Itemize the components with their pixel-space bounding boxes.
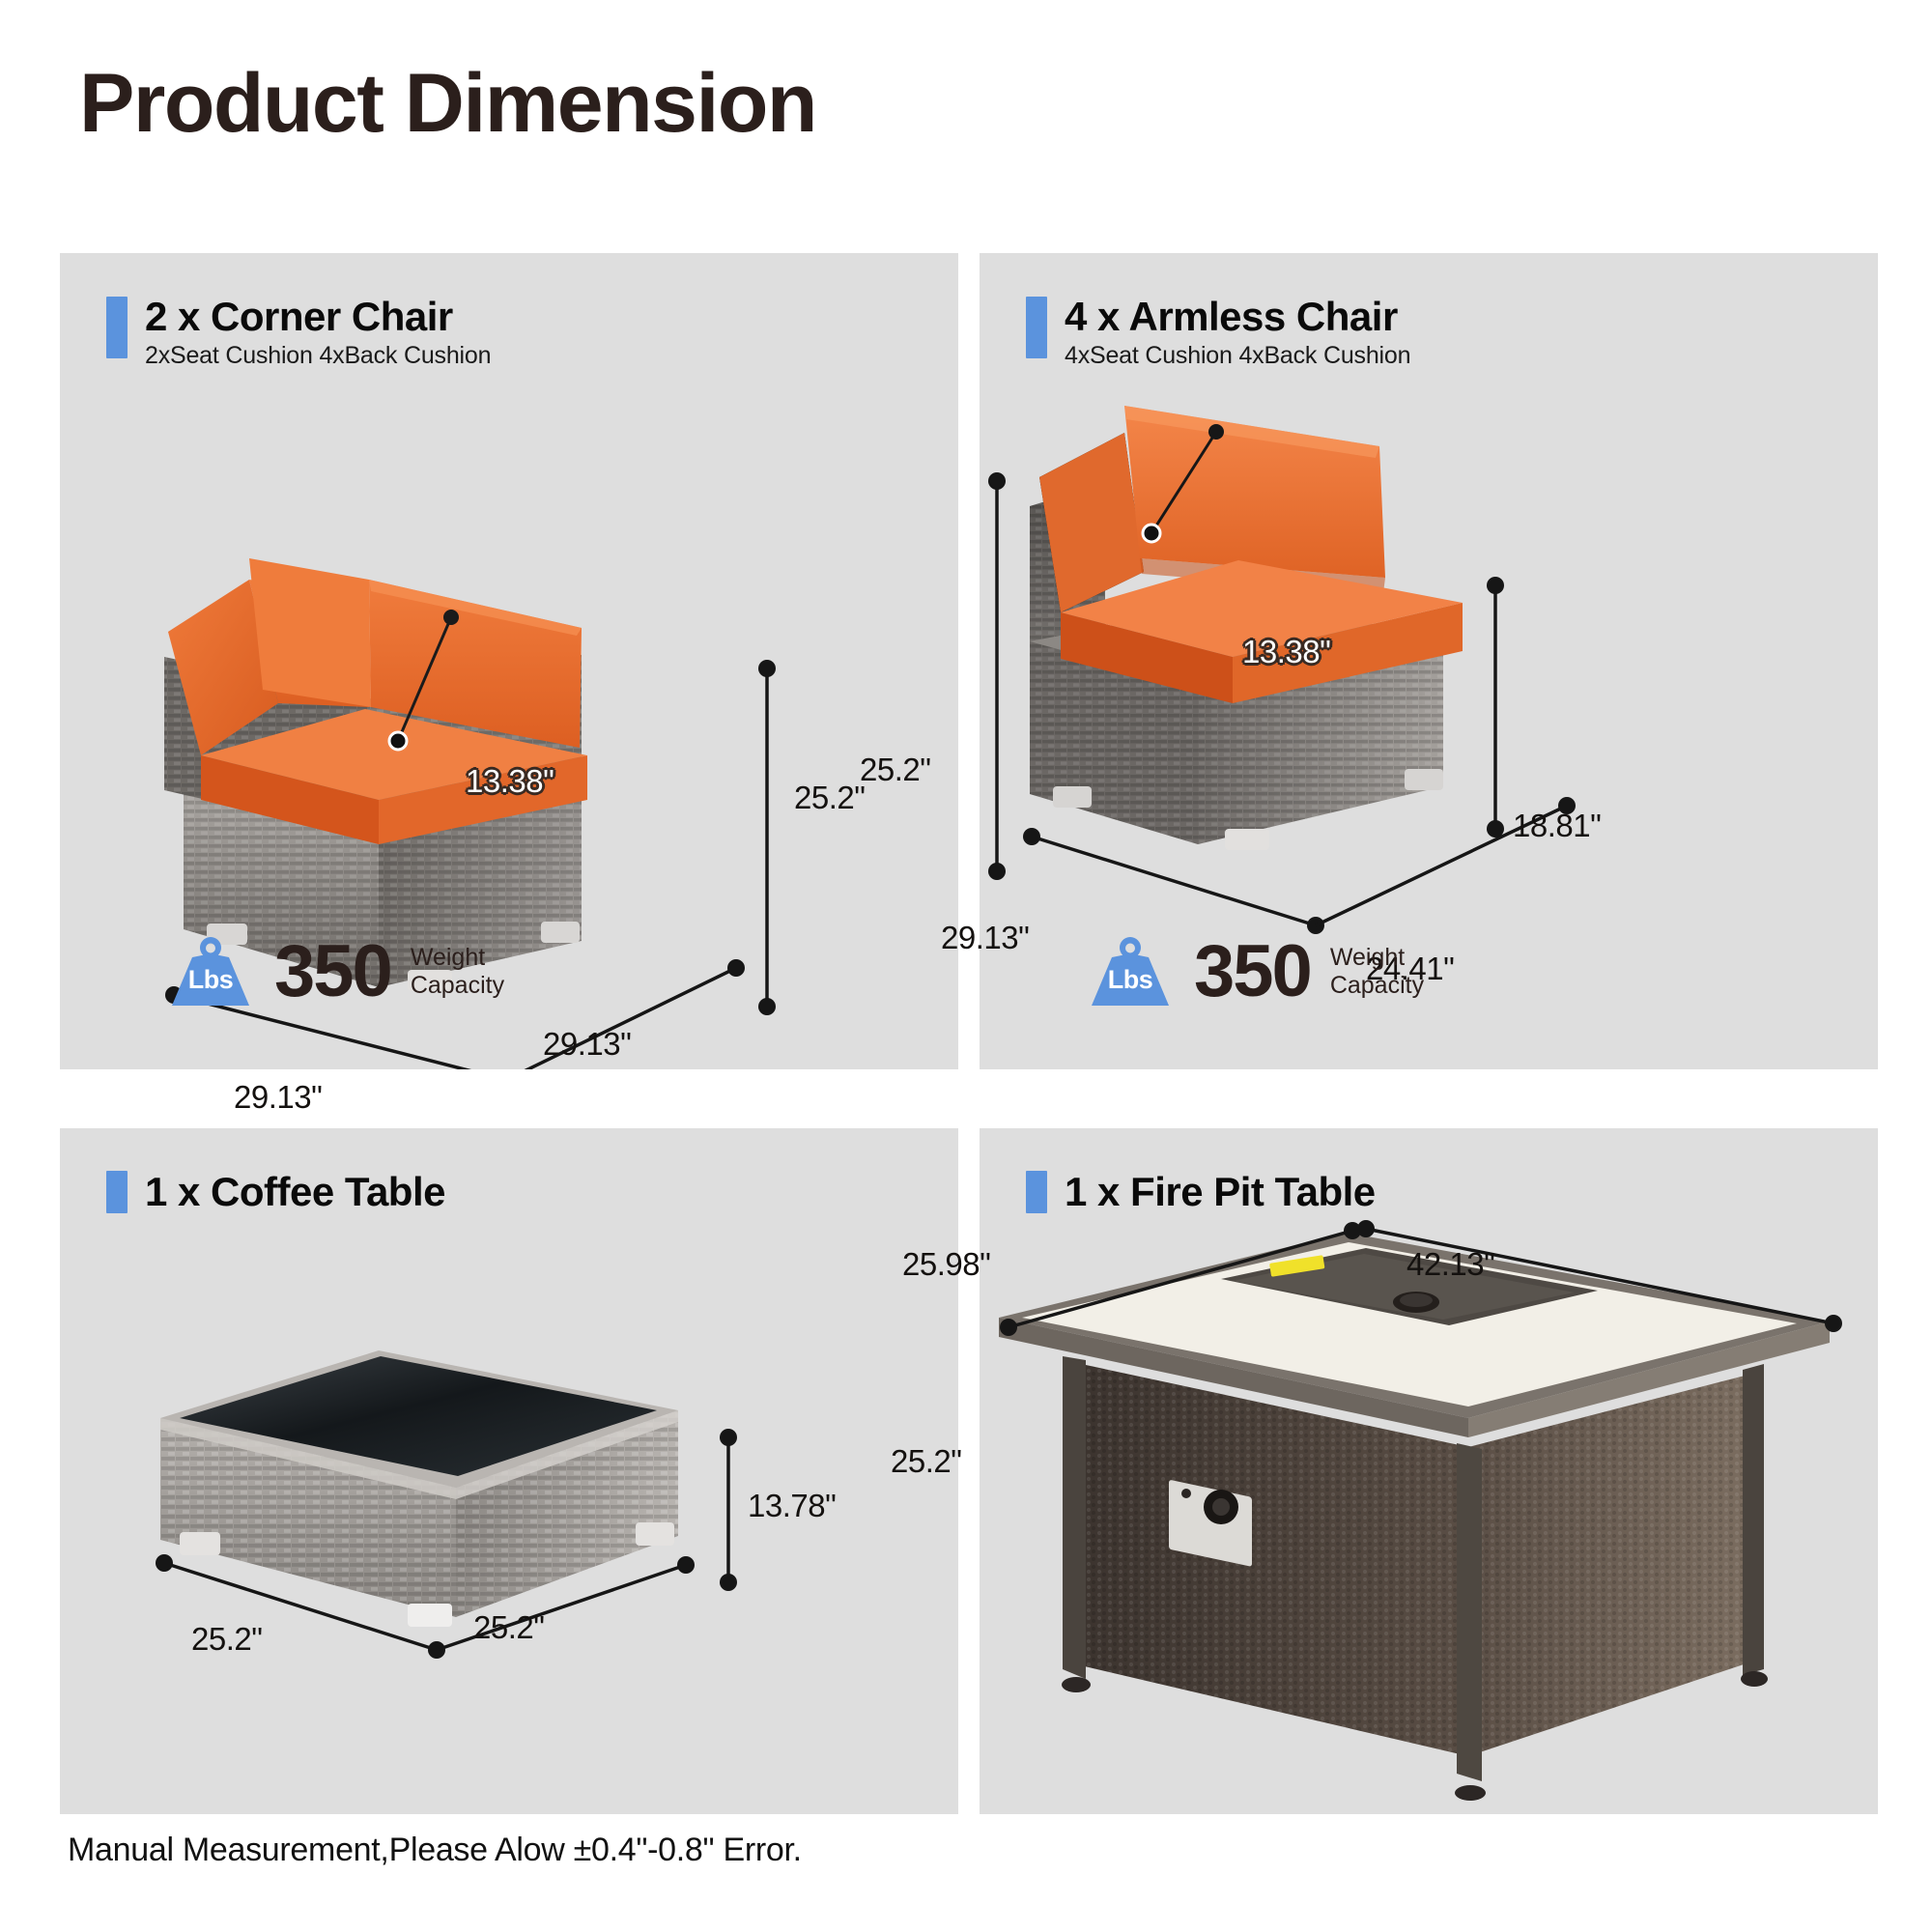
weight-lbs-icon: Lbs bbox=[1086, 934, 1175, 1009]
footer-note: Manual Measurement,Please Alow ±0.4"-0.8… bbox=[68, 1832, 802, 1869]
card-coffee-table: 1 x Coffee Table bbox=[60, 1128, 958, 1814]
dimension-label-length: 42.13" bbox=[1406, 1246, 1494, 1283]
card-corner-chair: 2 x Corner Chair 2xSeat Cushion 4xBack C… bbox=[60, 253, 958, 1069]
dimension-label-seat-height: 18.81" bbox=[1513, 808, 1601, 844]
dimension-label-depth: 29.13" bbox=[941, 920, 1029, 956]
weight-icon-label: Lbs bbox=[166, 965, 255, 995]
dimension-label-overall-height: 25.2" bbox=[794, 780, 865, 816]
dimension-label-width-left: 29.13" bbox=[234, 1079, 322, 1116]
dimension-label-width-left: 25.2" bbox=[191, 1621, 262, 1658]
dimension-label-back-cushion-height: 13.38" bbox=[1242, 634, 1330, 670]
weight-lbs-icon: Lbs bbox=[166, 934, 255, 1009]
page-title: Product Dimension bbox=[79, 60, 816, 147]
card-armless-chair: 4 x Armless Chair 4xSeat Cushion 4xBack … bbox=[980, 253, 1878, 1069]
weight-capacity-badge: Lbs 350 Weight Capacity bbox=[1086, 934, 1424, 1009]
dimension-label-height: 25.2" bbox=[891, 1443, 961, 1480]
weight-capacity-badge: Lbs 350 Weight Capacity bbox=[166, 934, 504, 1009]
weight-caption-line1: Weight bbox=[1330, 944, 1424, 973]
card-fire-pit-table: 1 x Fire Pit Table bbox=[980, 1128, 1878, 1814]
fire-pit-table-illustration bbox=[980, 1128, 1878, 1814]
dimension-label-depth: 25.98" bbox=[902, 1246, 990, 1283]
weight-caption-line2: Capacity bbox=[1330, 972, 1424, 1001]
weight-capacity-value: 350 bbox=[1194, 937, 1311, 1007]
weight-capacity-value: 350 bbox=[274, 937, 391, 1007]
weight-caption-line2: Capacity bbox=[411, 972, 504, 1001]
dimension-label-width-right: 25.2" bbox=[473, 1609, 544, 1646]
dimension-label-back-cushion-height: 13.38" bbox=[466, 763, 554, 800]
weight-icon-label: Lbs bbox=[1086, 965, 1175, 995]
weight-caption-line1: Weight bbox=[411, 944, 504, 973]
dimension-label-height: 13.78" bbox=[748, 1488, 836, 1524]
coffee-table-illustration bbox=[60, 1128, 958, 1814]
dimension-label-width-right: 29.13" bbox=[543, 1026, 631, 1063]
dimension-label-overall-height: 25.2" bbox=[860, 752, 930, 788]
